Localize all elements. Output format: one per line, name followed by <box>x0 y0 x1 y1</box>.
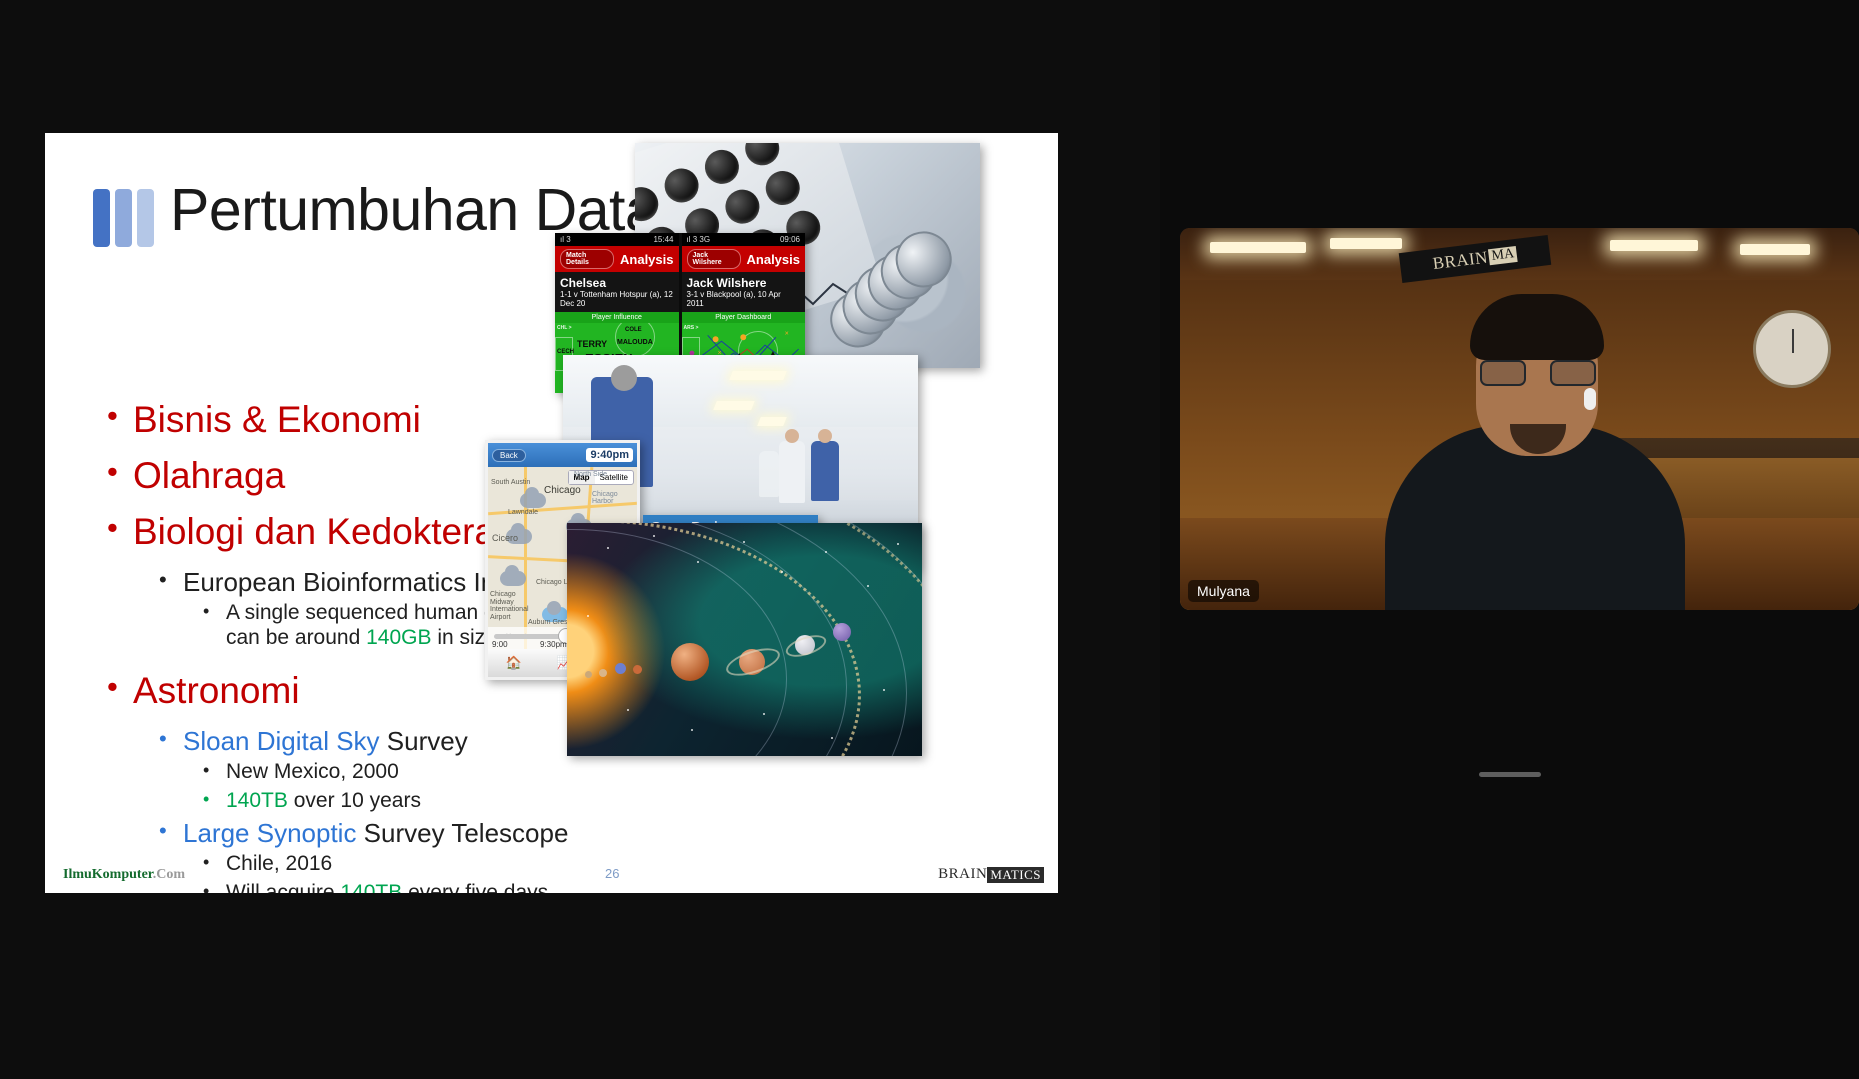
team-name-left: Chelsea <box>560 276 674 290</box>
slide-footer: IlmuKomputer.Com 26 BRAINMATICS <box>45 855 1058 885</box>
match-info-right: Jack Wilshere 3-1 v Blackpool (a), 10 Ap… <box>682 272 806 312</box>
title-accent-bar-1 <box>93 189 110 247</box>
active-speaker-name: Mulyana <box>1188 580 1259 602</box>
genome-line2-pre: can be around <box>226 626 366 649</box>
image-solar-system <box>567 523 922 756</box>
maps-back-button[interactable]: Back <box>492 449 526 462</box>
map-label-midway-airport: Chicago Midway International Airport <box>490 591 538 622</box>
nav-title-left: Analysis <box>620 252 673 267</box>
clock-label-right: 09:06 <box>780 235 800 244</box>
player-malouda: MALOUDA <box>617 339 653 346</box>
map-label-lawndale: Lawndale <box>508 509 538 516</box>
slide-image-collage: ıl 3 15:44 Match Details Analysis Chelse… <box>475 133 1058 893</box>
brainmatics-logo: BRAINMATICS <box>938 866 1044 883</box>
carrier-label-right: ıl 3 3G <box>687 235 711 244</box>
panel-title-right: Player Dashboard <box>682 312 806 323</box>
title-accent-bar-3 <box>137 189 154 247</box>
back-button-right[interactable]: Jack Wilshere <box>687 249 741 269</box>
home-icon[interactable]: 🏠 <box>505 655 521 671</box>
ilmukomputer-name: IlmuKomputer <box>63 867 153 882</box>
sloan-link: Sloan Digital Sky <box>183 726 380 756</box>
sloan-data-value: 140TB <box>226 789 288 812</box>
genome-size-value: 140GB <box>366 626 431 649</box>
map-label-chicago: Chicago <box>544 485 581 496</box>
map-label-north-side: North Side <box>574 471 607 478</box>
speaker-earbud <box>1584 388 1596 410</box>
zoom-meeting-window: Pertumbuhan Data Bisnis & Ekonomi Olahra… <box>0 0 1859 1079</box>
sloan-data-post: over 10 years <box>288 789 421 812</box>
brainmatics-logo-brain: BRAIN <box>938 866 987 883</box>
person-doctor-head <box>611 365 637 391</box>
map-label-cicero: Cicero <box>492 533 518 543</box>
active-speaker-tile[interactable]: BRAINMA Mulyana <box>1180 228 1859 610</box>
match-score-left: 1-1 v Tottenham Hotspur (a), 12 Dec 20 <box>560 290 674 308</box>
brainmatics-logo-matics: MATICS <box>987 867 1044 883</box>
person-staff-1-head <box>785 429 799 443</box>
carrier-label-left: ıl 3 <box>560 235 571 244</box>
svg-text:×: × <box>784 330 788 337</box>
nav-bar-right: Jack Wilshere Analysis <box>682 246 806 272</box>
player-terry: TERRY <box>577 339 607 349</box>
wall-clock <box>1753 310 1831 388</box>
maps-time: 9:40pm <box>586 448 633 462</box>
player-name-right: Jack Wilshere <box>687 276 801 290</box>
shared-screen-region: Pertumbuhan Data Bisnis & Ekonomi Olahra… <box>0 0 1160 1079</box>
nav-title-right: Analysis <box>747 252 800 267</box>
wall-sign-brain: BRAIN <box>1432 247 1489 274</box>
panel-drag-handle[interactable] <box>1479 772 1541 777</box>
nav-bar-left: Match Details Analysis <box>555 246 679 272</box>
lsst-link: Large Synoptic <box>183 818 356 848</box>
status-bar-left: ıl 3 15:44 <box>555 233 679 246</box>
back-button-left[interactable]: Match Details <box>560 249 614 269</box>
player-cole: COLE <box>625 327 642 333</box>
person-staff-2 <box>811 441 839 501</box>
presentation-slide[interactable]: Pertumbuhan Data Bisnis & Ekonomi Olahra… <box>45 133 1058 893</box>
panel-title-left: Player Influence <box>555 312 679 323</box>
slide-page-number: 26 <box>605 866 619 881</box>
title-accent-bar-2 <box>115 189 132 247</box>
speaker-hair <box>1470 294 1604 360</box>
person-staff-2-head <box>818 429 832 443</box>
team-code-left: CHL > <box>557 325 572 331</box>
ilmukomputer-tld: .Com <box>153 867 185 882</box>
clock-label-left: 15:44 <box>653 235 673 244</box>
person-staff-3 <box>759 451 779 497</box>
map-time-start: 9:00 <box>492 640 508 649</box>
wall-sign-matics: MA <box>1488 246 1518 265</box>
sloan-post: Survey <box>380 726 468 756</box>
map-label-chicago-harbor: Chicago Harbor <box>592 491 637 505</box>
map-time-mid: 9:30pm <box>540 640 567 649</box>
match-score-right: 3-1 v Blackpool (a), 10 Apr 2011 <box>687 290 801 308</box>
ilmukomputer-logo: IlmuKomputer.Com <box>63 867 185 883</box>
status-bar-right: ıl 3 3G 09:06 <box>682 233 806 246</box>
person-staff-1 <box>779 441 805 503</box>
maps-navbar: Back 9:40pm <box>488 443 637 467</box>
match-info-left: Chelsea 1-1 v Tottenham Hotspur (a), 12 … <box>555 272 679 312</box>
map-label-south-austin: South Austin <box>491 479 530 486</box>
video-panel: BRAINMA Mulyana <box>1160 0 1859 1079</box>
speaker-glasses <box>1480 360 1596 386</box>
